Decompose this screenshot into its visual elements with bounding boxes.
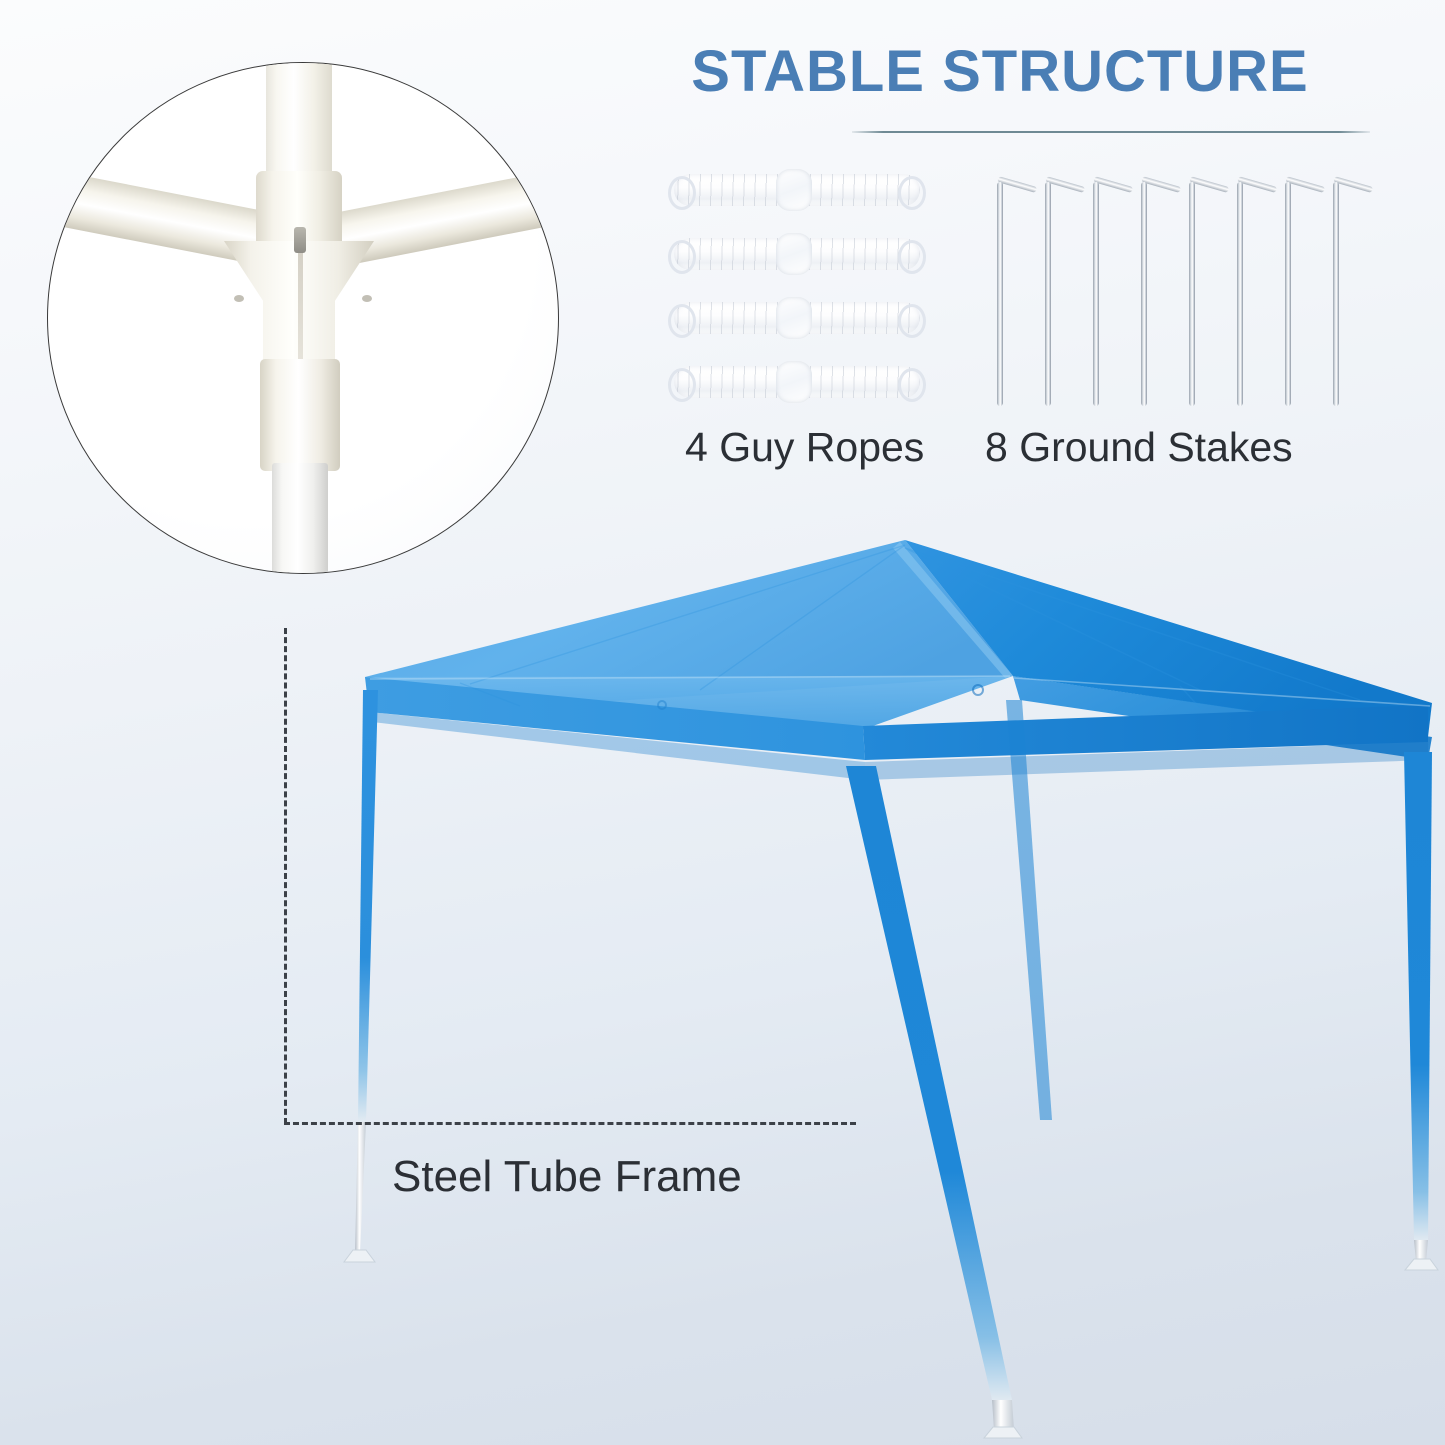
callout-leader-vertical (284, 628, 287, 1124)
gazebo-foot-front-center (984, 1427, 1022, 1438)
steel-tube-frame-label: Steel Tube Frame (392, 1152, 742, 1202)
callout-leader-horizontal (284, 1122, 856, 1125)
gazebo-leg-front-center-steel (992, 1400, 1014, 1430)
gazebo-illustration (0, 0, 1445, 1445)
infographic-page: STABLE STRUCTURE (0, 0, 1445, 1445)
gazebo-leg-right (1404, 752, 1432, 1240)
gazebo-foot-back-left (344, 1250, 375, 1262)
gazebo-leg-back-left (358, 690, 378, 1122)
gazebo-leg-front-center (846, 766, 1012, 1400)
gazebo-leg-back-left-steel (355, 1122, 366, 1253)
gazebo-foot-right (1405, 1259, 1438, 1270)
